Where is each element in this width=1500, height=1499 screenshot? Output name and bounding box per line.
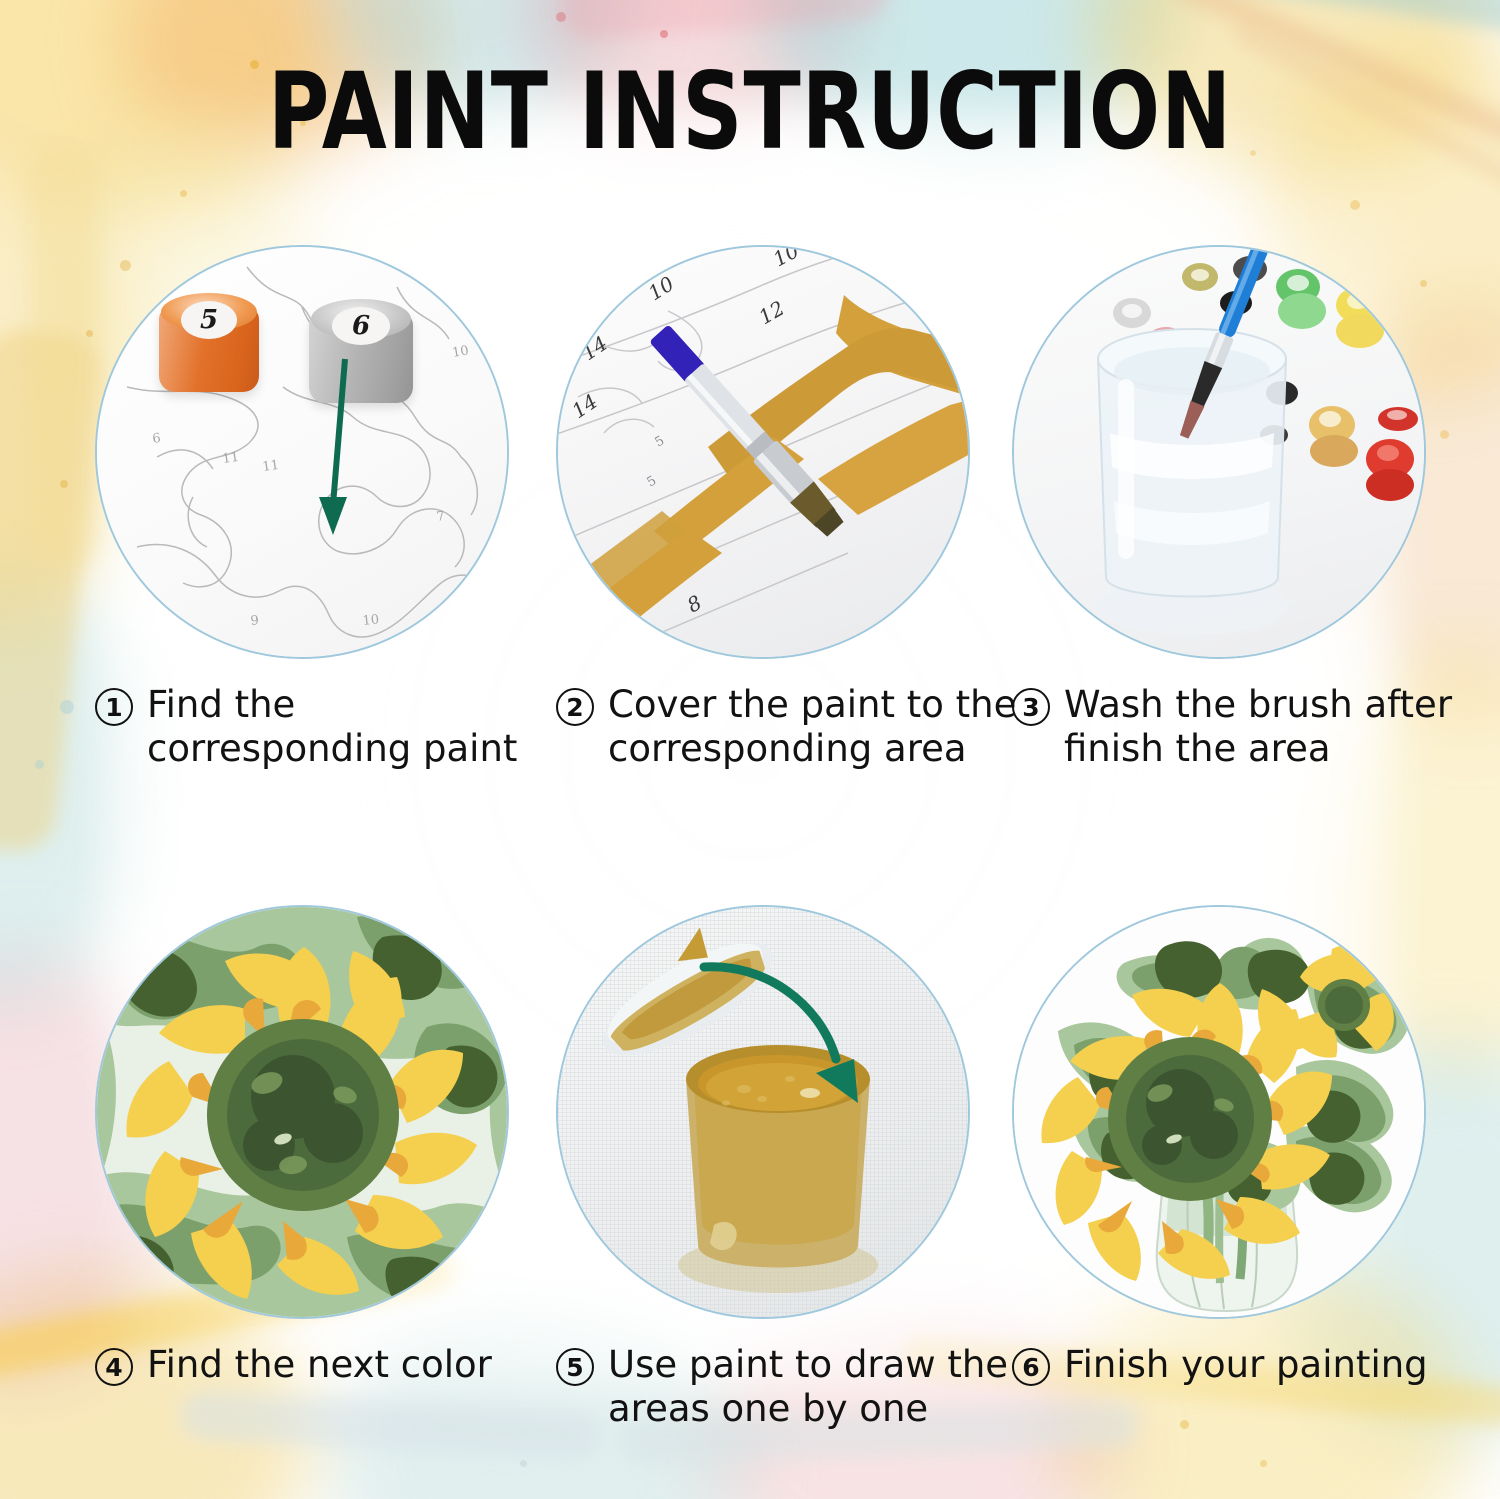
open-paint-pot-art bbox=[558, 907, 970, 1319]
step-2-caption: 2 Cover the paint to the corresponding a… bbox=[556, 683, 1026, 771]
paint-instruction-poster: PAINT INSTRUCTION bbox=[0, 0, 1500, 1499]
step-3-image bbox=[1012, 245, 1426, 659]
step-5: 5 Use paint to draw the areas one by one bbox=[556, 905, 1056, 1431]
step-6-caption-text: Finish your painting bbox=[1064, 1343, 1500, 1387]
step-5-caption-text: Use paint to draw the areas one by one bbox=[608, 1343, 1026, 1431]
step-1-number: 1 bbox=[95, 688, 133, 726]
step-4-number: 4 bbox=[95, 1348, 133, 1386]
page-title: PAINT INSTRUCTION bbox=[90, 56, 1410, 167]
step-3-caption: 3 Wash the brush after finish the area bbox=[1012, 683, 1500, 771]
step-3: 3 Wash the brush after finish the area bbox=[1012, 245, 1500, 771]
step-6-image bbox=[1012, 905, 1426, 1319]
step-2-caption-text: Cover the paint to the corresponding are… bbox=[608, 683, 1026, 771]
step-2-number: 2 bbox=[556, 688, 594, 726]
paint-brush-icon bbox=[558, 247, 970, 659]
step-2-image: 10 12 14 14 10 8 5 5 bbox=[556, 245, 970, 659]
steps-grid: 6 11 11 10 7 10 9 5 bbox=[0, 0, 1500, 1499]
finished-bouquet-art bbox=[1014, 907, 1426, 1319]
step-4: 4 Find the next color bbox=[95, 905, 595, 1387]
step-6-caption: 6 Finish your painting bbox=[1012, 1343, 1500, 1387]
step-5-number: 5 bbox=[556, 1348, 594, 1386]
step-4-caption: 4 Find the next color bbox=[95, 1343, 565, 1387]
step-1: 6 11 11 10 7 10 9 5 bbox=[95, 245, 595, 771]
step-3-number: 3 bbox=[1012, 688, 1050, 726]
step-2: 10 12 14 14 10 8 5 5 bbox=[556, 245, 1056, 771]
step-6: 6 Finish your painting bbox=[1012, 905, 1500, 1387]
step-5-image bbox=[556, 905, 970, 1319]
step-4-caption-text: Find the next color bbox=[147, 1343, 565, 1387]
step-1-caption-text: Find the corresponding paint bbox=[147, 683, 565, 771]
step-6-number: 6 bbox=[1012, 1348, 1050, 1386]
step-1-image: 6 11 11 10 7 10 9 5 bbox=[95, 245, 509, 659]
step-5-caption: 5 Use paint to draw the areas one by one bbox=[556, 1343, 1026, 1431]
step-3-caption-text: Wash the brush after finish the area bbox=[1064, 683, 1500, 771]
down-arrow-icon bbox=[97, 247, 509, 659]
sunflower-closeup-art bbox=[97, 907, 509, 1319]
water-glass-icon bbox=[1014, 247, 1426, 659]
step-4-image bbox=[95, 905, 509, 1319]
step-1-caption: 1 Find the corresponding paint bbox=[95, 683, 565, 771]
